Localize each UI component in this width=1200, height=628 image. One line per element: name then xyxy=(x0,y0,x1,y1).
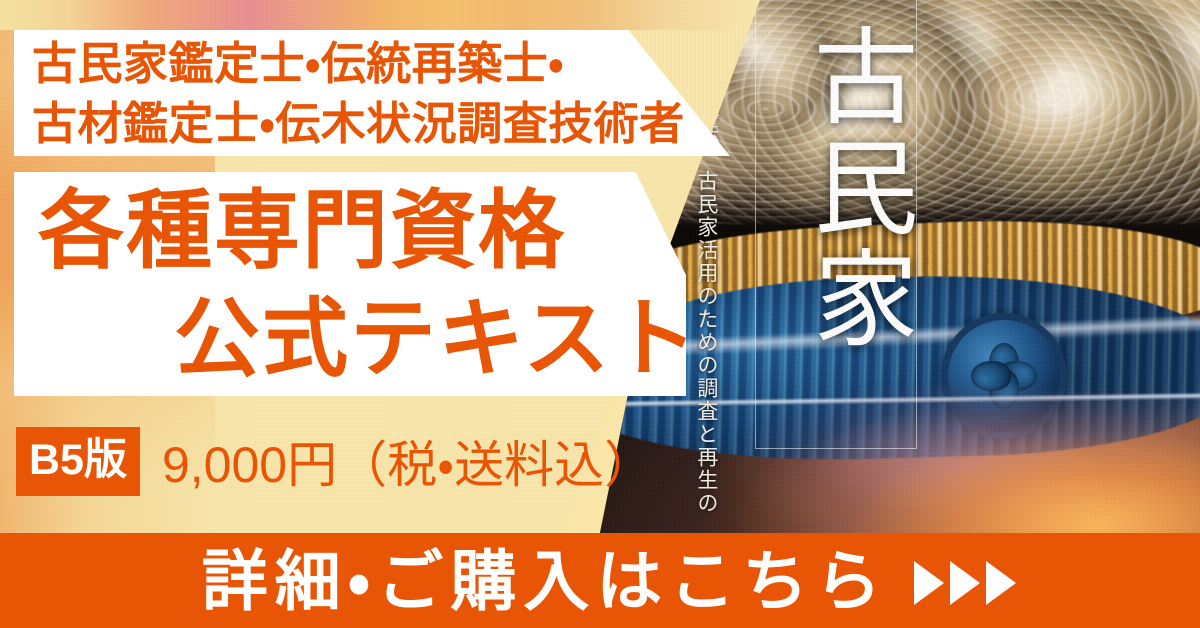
chevron-right-icon xyxy=(914,561,944,605)
cta-label: 詳細・ご購入はこちら xyxy=(202,548,888,614)
certifications-line-1: 古民家鑑定士・伝統再築士・ xyxy=(32,34,730,94)
top-gradient-stripe xyxy=(0,0,760,30)
chevron-right-icon xyxy=(986,561,1016,605)
headline-line-2: 公式テキスト xyxy=(174,285,686,393)
price-text: 9,000円（税・送料込） xyxy=(162,425,654,497)
cta-arrows xyxy=(914,561,1016,605)
cover-title: 古民家 xyxy=(750,22,918,452)
headline-card: 各種専門資格 公式テキスト xyxy=(14,172,686,396)
cover-subtitle-main: 古民家活用のための調査と再生の xyxy=(695,170,719,515)
chevron-right-icon xyxy=(950,561,980,605)
promo-banner[interactable]: 古民家 伝統構法 古民家活用のための調査と再生の 古民家鑑定士・伝統再築士・ 古… xyxy=(0,0,1200,628)
headline-line-1: 各種専門資格 xyxy=(38,177,686,285)
certifications-line-2: 古材鑑定士・伝木状況調査技術者 xyxy=(32,94,730,154)
cta-bar[interactable]: 詳細・ご購入はこちら xyxy=(0,533,1200,628)
certifications-card: 古民家鑑定士・伝統再築士・ 古材鑑定士・伝木状況調査技術者 xyxy=(14,30,730,156)
price-row: B5版 9,000円（税・送料込） xyxy=(16,427,654,495)
format-badge: B5版 xyxy=(16,427,140,496)
